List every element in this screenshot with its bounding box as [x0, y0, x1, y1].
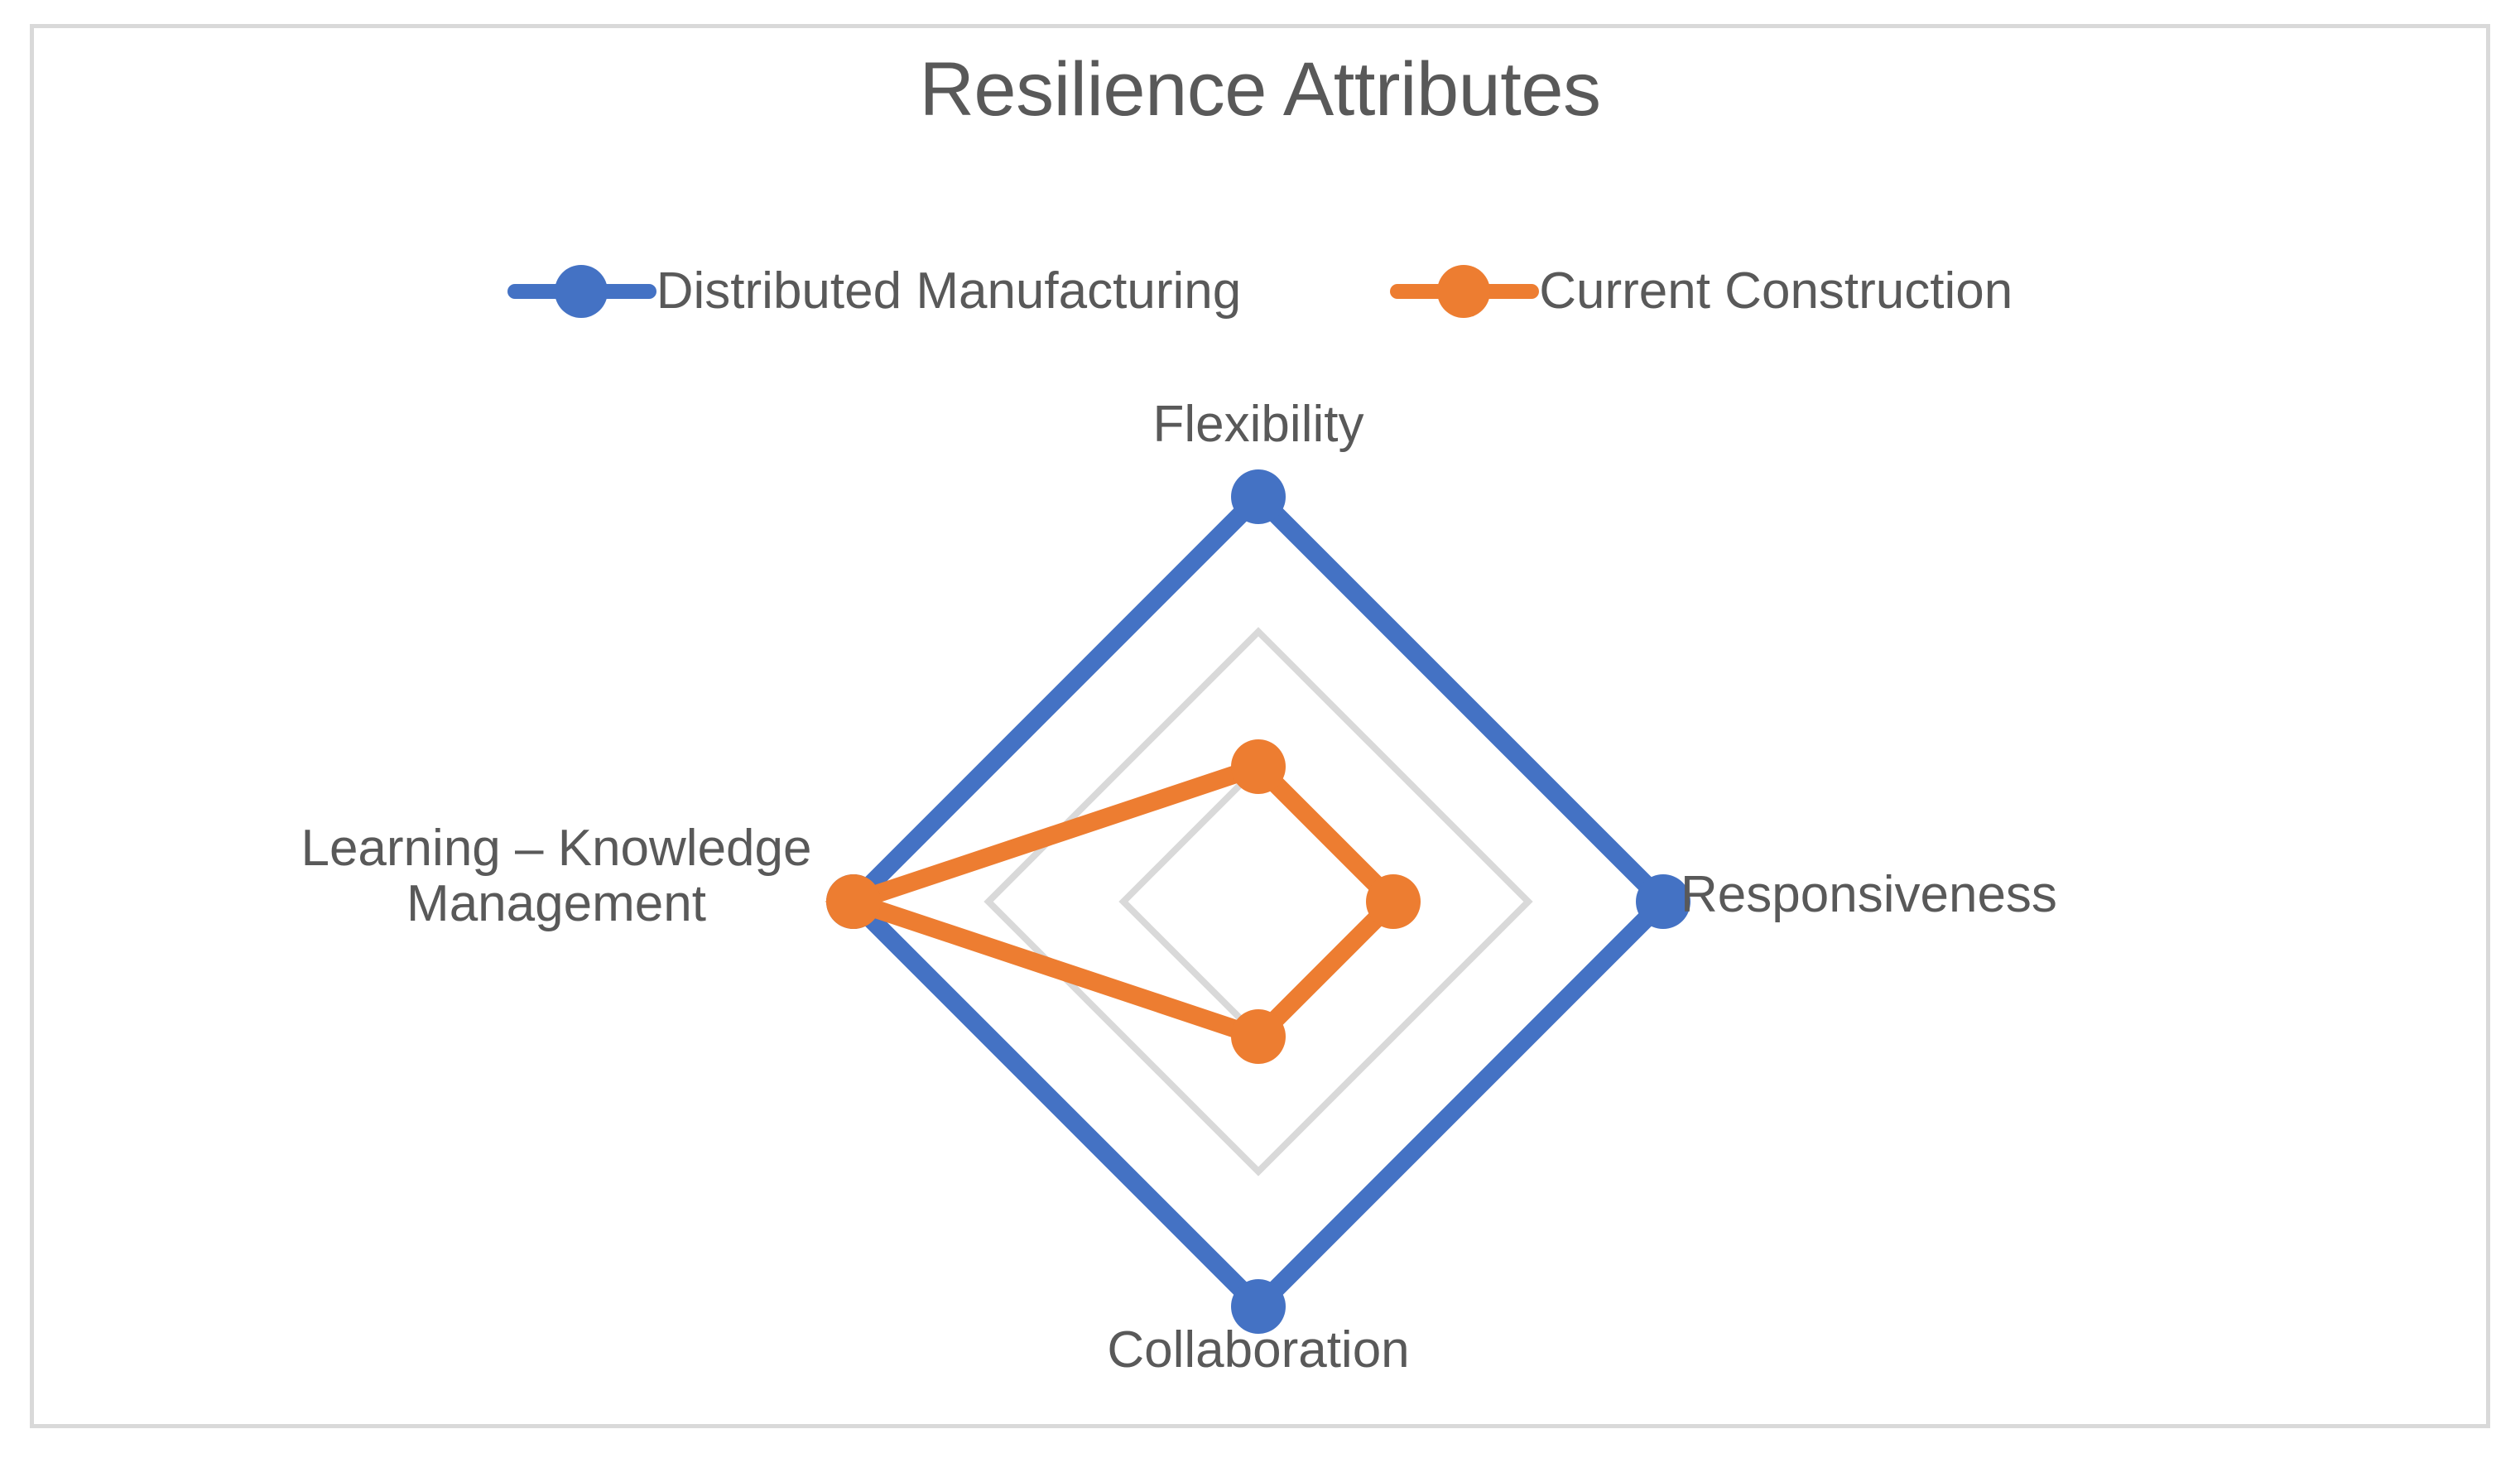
radar-gridlines: [854, 497, 1663, 1306]
data-point-marker[interactable]: [1366, 874, 1421, 929]
gridline-ring-3: [854, 497, 1663, 1306]
data-point-marker[interactable]: [1231, 469, 1286, 524]
data-point-marker[interactable]: [1231, 1009, 1286, 1064]
axis-label-flexibility: Flexibility: [1153, 397, 1364, 453]
axis-label-learning-knowledge-management: Learning – Knowledge Management: [267, 821, 846, 932]
axis-label-line-2: Management: [406, 875, 706, 932]
gridline-ring-2: [988, 632, 1528, 1172]
axis-label-collaboration: Collaboration: [1107, 1323, 1409, 1379]
radar-series-layer: [826, 469, 1690, 1334]
radar-series-1: [826, 469, 1690, 1334]
data-point-marker[interactable]: [1231, 739, 1286, 794]
chart-page: Resilience Attributes Distributed Manufa…: [0, 0, 2520, 1458]
radar-chart-svg: [0, 0, 2520, 1458]
series-line-1: [854, 497, 1663, 1306]
axis-label-responsiveness: Responsiveness: [1681, 868, 2057, 923]
axis-label-line-1: Learning – Knowledge: [301, 820, 811, 877]
radar-plot-area: Flexibility Responsiveness Collaboration…: [0, 0, 2520, 1458]
